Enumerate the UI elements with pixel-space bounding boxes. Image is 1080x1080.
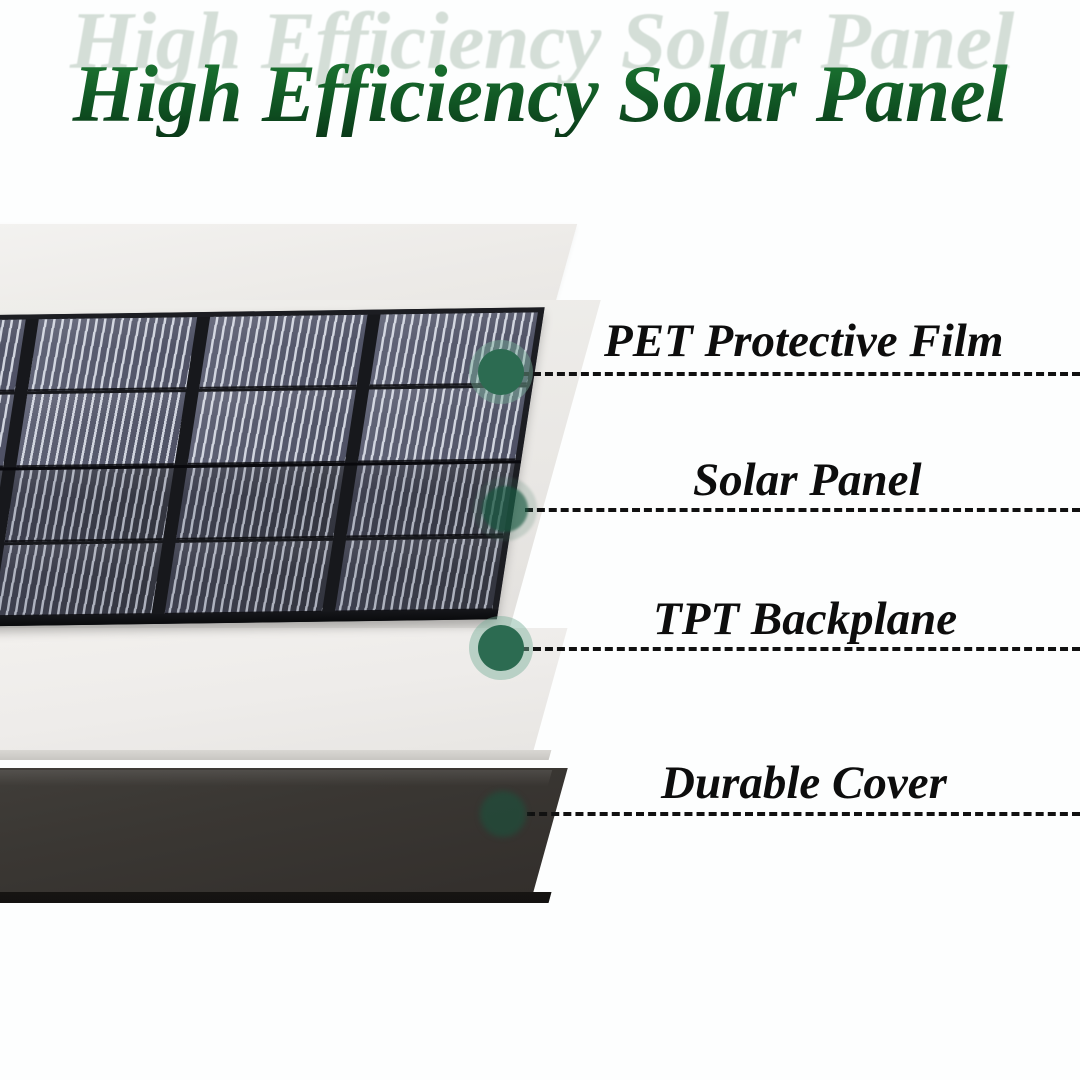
cover-layer-edge	[0, 892, 552, 903]
solar-cell	[176, 465, 345, 539]
callout-marker-dot-solar-panel[interactable]	[482, 486, 528, 532]
callout-label-solar-panel: Solar Panel	[693, 457, 922, 504]
product-exploded-diagram	[0, 0, 1080, 1080]
callout-leader-line-tpt-backplane	[521, 647, 1080, 651]
solar-cell	[28, 317, 197, 391]
infographic-canvas: High Efficiency Solar Panel High Efficie…	[0, 0, 1080, 1080]
cover-layer-sheen	[0, 770, 552, 786]
callout-marker-dot-durable-cover[interactable]	[480, 791, 526, 837]
solar-cell	[187, 390, 356, 464]
solar-cell	[358, 388, 527, 462]
callout-label-durable-cover: Durable Cover	[661, 760, 947, 807]
solar-cell	[164, 540, 333, 614]
solar-cell	[0, 395, 14, 469]
solar-cell	[0, 543, 162, 617]
callout-marker-dot-pet-protective-film[interactable]	[478, 349, 524, 395]
solar-panel-frame	[0, 307, 545, 628]
solar-cell	[5, 468, 174, 542]
callout-label-pet-protective-film: PET Protective Film	[604, 318, 1003, 365]
callout-leader-line-solar-panel	[525, 508, 1080, 512]
solar-cell	[16, 392, 185, 466]
solar-cell	[0, 319, 26, 393]
solar-cell	[199, 315, 368, 389]
solar-cell	[0, 470, 3, 544]
solar-cell-layer	[0, 307, 545, 628]
solar-cell	[335, 538, 504, 612]
callout-leader-line-pet-protective-film	[521, 372, 1080, 376]
callout-marker-dot-tpt-backplane[interactable]	[478, 625, 524, 671]
tpt-layer-edge	[0, 750, 551, 760]
cover-layer	[0, 768, 568, 896]
callout-leader-line-durable-cover	[527, 812, 1080, 816]
callout-label-tpt-backplane: TPT Backplane	[653, 596, 957, 643]
